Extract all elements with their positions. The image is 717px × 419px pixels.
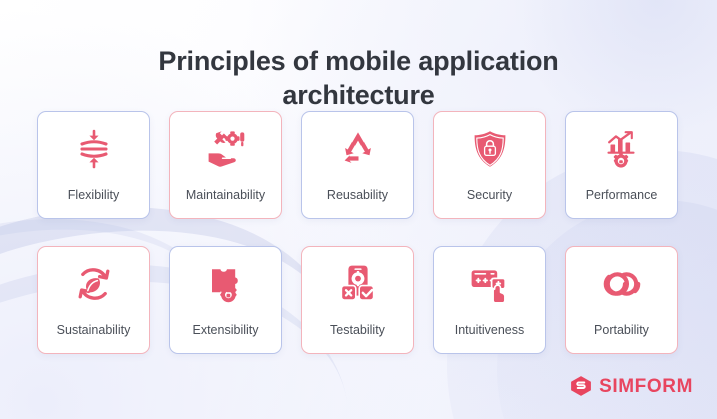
simform-logo: SIMFORM <box>570 375 693 397</box>
principle-label: Reusability <box>302 189 413 202</box>
page-title-line-1: Principles of mobile application <box>158 46 558 76</box>
principle-label: Flexibility <box>38 189 149 202</box>
principle-label: Security <box>434 189 545 202</box>
flexibility-arrows-icon <box>71 126 117 172</box>
leaf-refresh-icon <box>71 261 117 307</box>
shield-lock-icon <box>467 126 513 172</box>
puzzle-gear-icon <box>203 261 249 307</box>
principle-label: Maintainability <box>170 189 281 202</box>
principle-label: Testability <box>302 324 413 337</box>
principle-card-extensibility[interactable]: Extensibility <box>169 246 282 354</box>
simform-diamond-s-icon <box>570 375 592 397</box>
recycle-icon <box>335 126 381 172</box>
card-tap-hand-icon <box>467 261 513 307</box>
principle-card-intuitiveness[interactable]: Intuitiveness <box>433 246 546 354</box>
principle-card-testability[interactable]: Testability <box>301 246 414 354</box>
principle-label: Performance <box>566 189 677 202</box>
principle-label: Sustainability <box>38 324 149 337</box>
hand-tools-icon <box>203 126 249 172</box>
principle-card-security[interactable]: Security <box>433 111 546 219</box>
principles-grid: Flexibility Maintainabili <box>37 111 678 354</box>
device-check-cross-icon <box>335 261 381 307</box>
page-title-line-2: architecture <box>0 78 717 112</box>
slide-canvas: Principles of mobile application archite… <box>0 0 717 419</box>
principle-card-performance[interactable]: Performance <box>565 111 678 219</box>
simform-wordmark: SIMFORM <box>599 377 693 396</box>
principle-label: Intuitiveness <box>434 324 545 337</box>
page-title: Principles of mobile application archite… <box>0 44 717 113</box>
bar-chart-gear-icon <box>599 126 645 172</box>
interlocking-rings-icon <box>599 261 645 307</box>
principle-card-reusability[interactable]: Reusability <box>301 111 414 219</box>
principle-card-sustainability[interactable]: Sustainability <box>37 246 150 354</box>
principle-label: Portability <box>566 324 677 337</box>
principle-card-flexibility[interactable]: Flexibility <box>37 111 150 219</box>
principle-card-maintainability[interactable]: Maintainability <box>169 111 282 219</box>
principle-label: Extensibility <box>170 324 281 337</box>
principle-card-portability[interactable]: Portability <box>565 246 678 354</box>
